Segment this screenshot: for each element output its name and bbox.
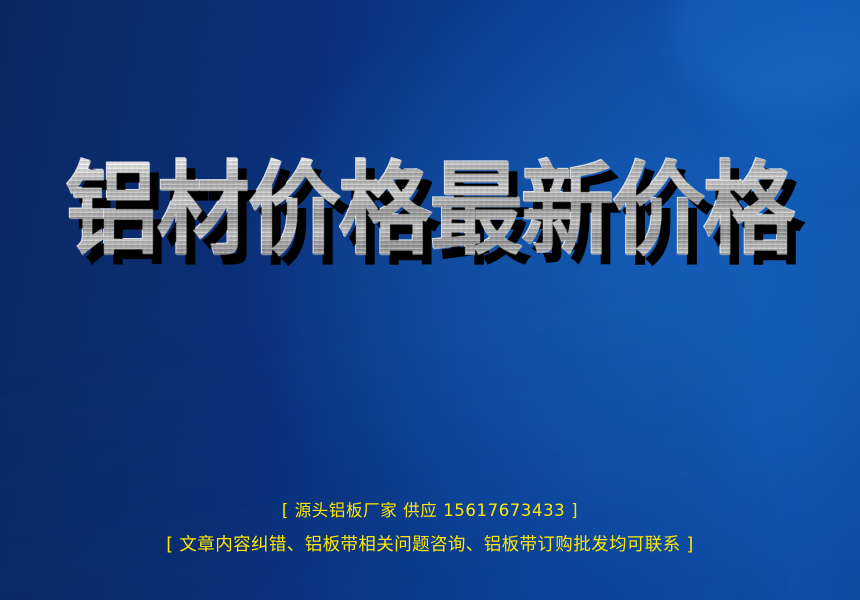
poster-title: 铝材价格最新价格 铝材价格最新价格 铝材价格最新价格 xyxy=(0,146,860,276)
poster-canvas: 铝材价格最新价格 铝材价格最新价格 铝材价格最新价格 [ 源头铝板厂家 供应 1… xyxy=(0,0,860,600)
footer-contact-block: [ 源头铝板厂家 供应 15617673433 ] [ 文章内容纠错、铝板带相关… xyxy=(0,497,860,556)
background-blob-upper-right xyxy=(672,0,860,111)
footer-supplier-line: [ 源头铝板厂家 供应 15617673433 ] xyxy=(0,497,860,521)
title-metal-text: 铝材价格最新价格 xyxy=(66,156,795,265)
footer-correction-line: [ 文章内容纠错、铝板带相关问题咨询、铝板带订购批发均可联系 ] xyxy=(0,531,860,556)
title-stack: 铝材价格最新价格 铝材价格最新价格 铝材价格最新价格 xyxy=(34,156,826,265)
